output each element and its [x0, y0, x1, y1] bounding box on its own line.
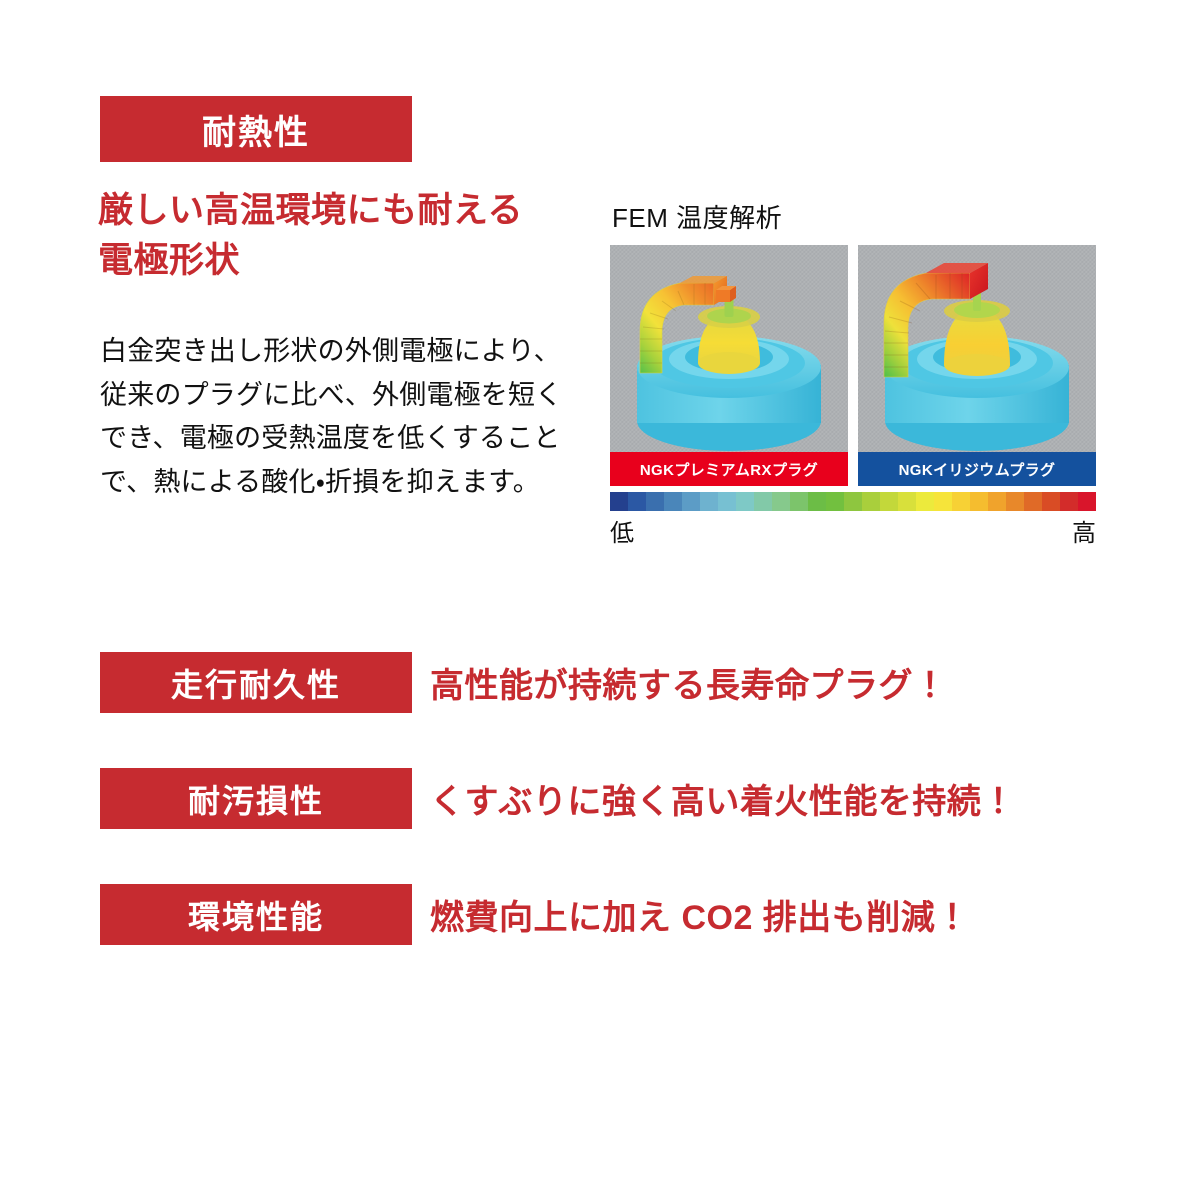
feature-row-durability: 走行耐久性 高性能が持続する長寿命プラグ！ [0, 652, 1200, 713]
scale-segment-19 [952, 492, 970, 511]
body-line-2: 従来のプラグに比べ、外側電極を短く [100, 374, 600, 418]
scale-segment-22 [1006, 492, 1024, 511]
fem-analysis-block: FEM 温度解析 [610, 198, 1096, 543]
scale-segment-7 [736, 492, 754, 511]
spark-plug-thermal-illustration-iridium [858, 245, 1096, 452]
temperature-scale-bar [610, 492, 1096, 511]
scale-segment-1 [628, 492, 646, 511]
body-line-4: で、熱による酸化・折損を抑えます。 [100, 461, 600, 505]
feature-row-environment: 環境性能 燃費向上に加え CO2 排出も削減！ [0, 884, 1200, 945]
fem-analysis-title: FEM 温度解析 [612, 198, 1096, 235]
scale-segment-11 [808, 492, 826, 511]
feature-badge-environment: 環境性能 [100, 884, 412, 945]
scale-segment-26 [1078, 492, 1096, 511]
feature-badge-durability: 走行耐久性 [100, 652, 412, 713]
fem-panel-premium-rx: NGKプレミアムRXプラグ [610, 245, 848, 486]
scale-segment-20 [970, 492, 988, 511]
fem-panel-iridium: NGKイリジウムプラグ [858, 245, 1096, 486]
scale-segment-24 [1042, 492, 1060, 511]
scale-low-label: 低 [610, 513, 634, 548]
feature-badge-fouling-resistance: 耐汚損性 [100, 768, 412, 829]
fem-image-premium-rx [610, 245, 848, 452]
fem-caption-iridium: NGKイリジウムプラグ [858, 452, 1096, 486]
scale-segment-18 [934, 492, 952, 511]
scale-segment-8 [754, 492, 772, 511]
scale-segment-15 [880, 492, 898, 511]
scale-segment-9 [772, 492, 790, 511]
scale-segment-0 [610, 492, 628, 511]
fem-image-iridium [858, 245, 1096, 452]
body-line-1: 白金突き出し形状の外側電極により、 [100, 330, 600, 374]
scale-segment-12 [826, 492, 844, 511]
subheading-line-2: 電極形状 [98, 236, 618, 286]
scale-segment-10 [790, 492, 808, 511]
subheading-line-1: 厳しい高温環境にも耐える [98, 186, 618, 236]
scale-segment-2 [646, 492, 664, 511]
temperature-scale-labels: 低 高 [610, 513, 1096, 543]
feature-text-fouling-resistance: くすぶりに強く高い着火性能を持続！ [430, 768, 1016, 829]
scale-segment-13 [844, 492, 862, 511]
scale-segment-17 [916, 492, 934, 511]
heat-resistance-body: 白金突き出し形状の外側電極により、 従来のプラグに比べ、外側電極を短く でき、電… [100, 330, 600, 505]
feature-list: 走行耐久性 高性能が持続する長寿命プラグ！ 耐汚損性 くすぶりに強く高い着火性能… [0, 652, 1200, 1000]
spark-plug-thermal-illustration-rx [610, 245, 848, 452]
heat-resistance-badge: 耐熱性 [100, 96, 412, 162]
scale-segment-14 [862, 492, 880, 511]
scale-high-label: 高 [1072, 513, 1096, 548]
feature-row-fouling-resistance: 耐汚損性 くすぶりに強く高い着火性能を持続！ [0, 768, 1200, 829]
scale-segment-16 [898, 492, 916, 511]
scale-segment-21 [988, 492, 1006, 511]
feature-text-durability: 高性能が持続する長寿命プラグ！ [430, 652, 948, 713]
heat-resistance-subheading: 厳しい高温環境にも耐える 電極形状 [98, 186, 618, 285]
body-line-3: でき、電極の受熱温度を低くすること [100, 417, 600, 461]
scale-segment-23 [1024, 492, 1042, 511]
fem-panel-group: NGKプレミアムRXプラグ [610, 245, 1096, 486]
scale-segment-6 [718, 492, 736, 511]
feature-text-environment: 燃費向上に加え CO2 排出も削減！ [430, 884, 970, 945]
scale-segment-4 [682, 492, 700, 511]
fem-caption-premium-rx: NGKプレミアムRXプラグ [610, 452, 848, 486]
scale-segment-3 [664, 492, 682, 511]
scale-segment-5 [700, 492, 718, 511]
heat-resistance-section: 耐熱性 厳しい高温環境にも耐える 電極形状 白金突き出し形状の外側電極により、 … [0, 0, 1200, 600]
scale-segment-25 [1060, 492, 1078, 511]
